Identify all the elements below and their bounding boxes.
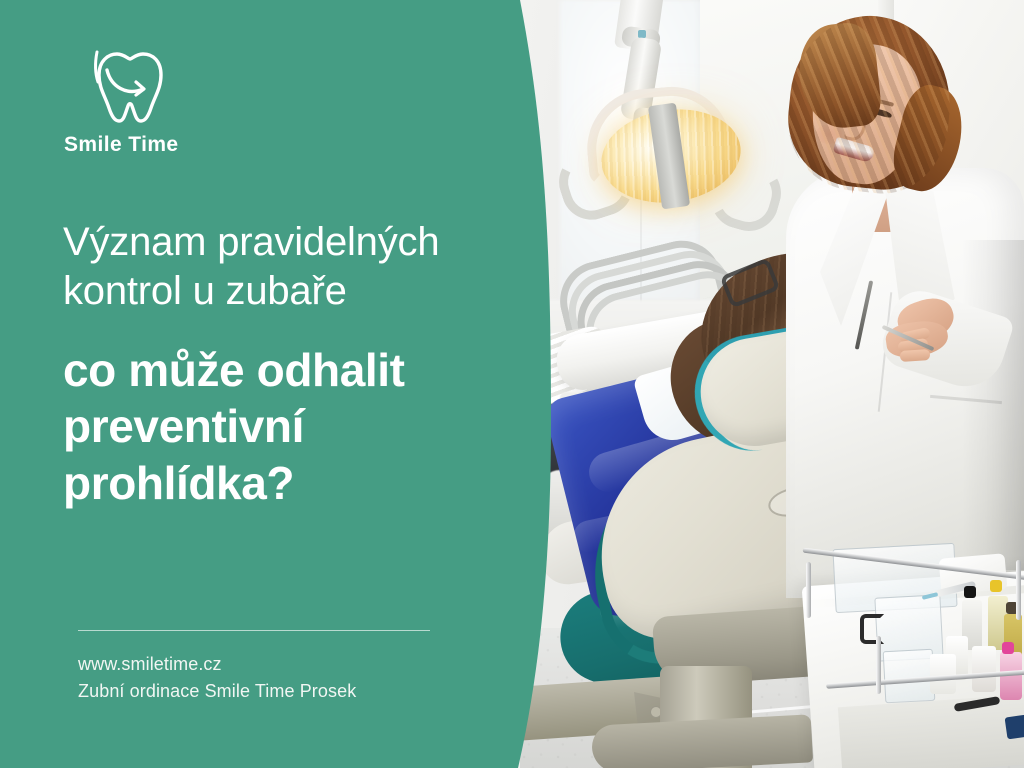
coat-shading (962, 240, 1024, 570)
tray-rail-post (1016, 560, 1021, 620)
tooth-smile-icon (81, 48, 177, 126)
footer-website[interactable]: www.smiletime.cz (78, 651, 434, 678)
dentist-finger (900, 349, 931, 362)
dental-tool (1005, 715, 1024, 740)
headline-kicker: Význam pravidelných kontrol u zubaře (63, 218, 513, 316)
bottle-cap (1002, 642, 1014, 654)
headline-main-line-2: preventivní (63, 400, 304, 452)
headline-block: Význam pravidelných kontrol u zubaře co … (63, 218, 513, 511)
dental-bottle (972, 646, 996, 692)
headline-main: co může odhalit preventivní prohlídka? (63, 342, 513, 512)
brand-name: Smile Time (64, 133, 243, 157)
bottle-cap (990, 580, 1002, 592)
footer-divider (78, 630, 430, 631)
footer-clinic-name: Zubní ordinace Smile Time Prosek (78, 678, 434, 705)
poster-canvas: Smile Time Význam pravidelných kontrol u… (0, 0, 1024, 768)
tray-rail-post (806, 562, 811, 618)
footer-block: www.smiletime.cz Zubní ordinace Smile Ti… (78, 630, 434, 704)
headline-kicker-line-2: kontrol u zubaře (63, 269, 347, 313)
tray-rail-post (876, 636, 881, 694)
bottle-cap (964, 586, 976, 598)
headline-main-line-1: co může odhalit (63, 344, 405, 396)
headline-kicker-line-1: Význam pravidelných (63, 220, 439, 264)
brand-logo[interactable]: Smile Time (63, 48, 243, 157)
headline-main-line-3: prohlídka? (63, 457, 294, 509)
